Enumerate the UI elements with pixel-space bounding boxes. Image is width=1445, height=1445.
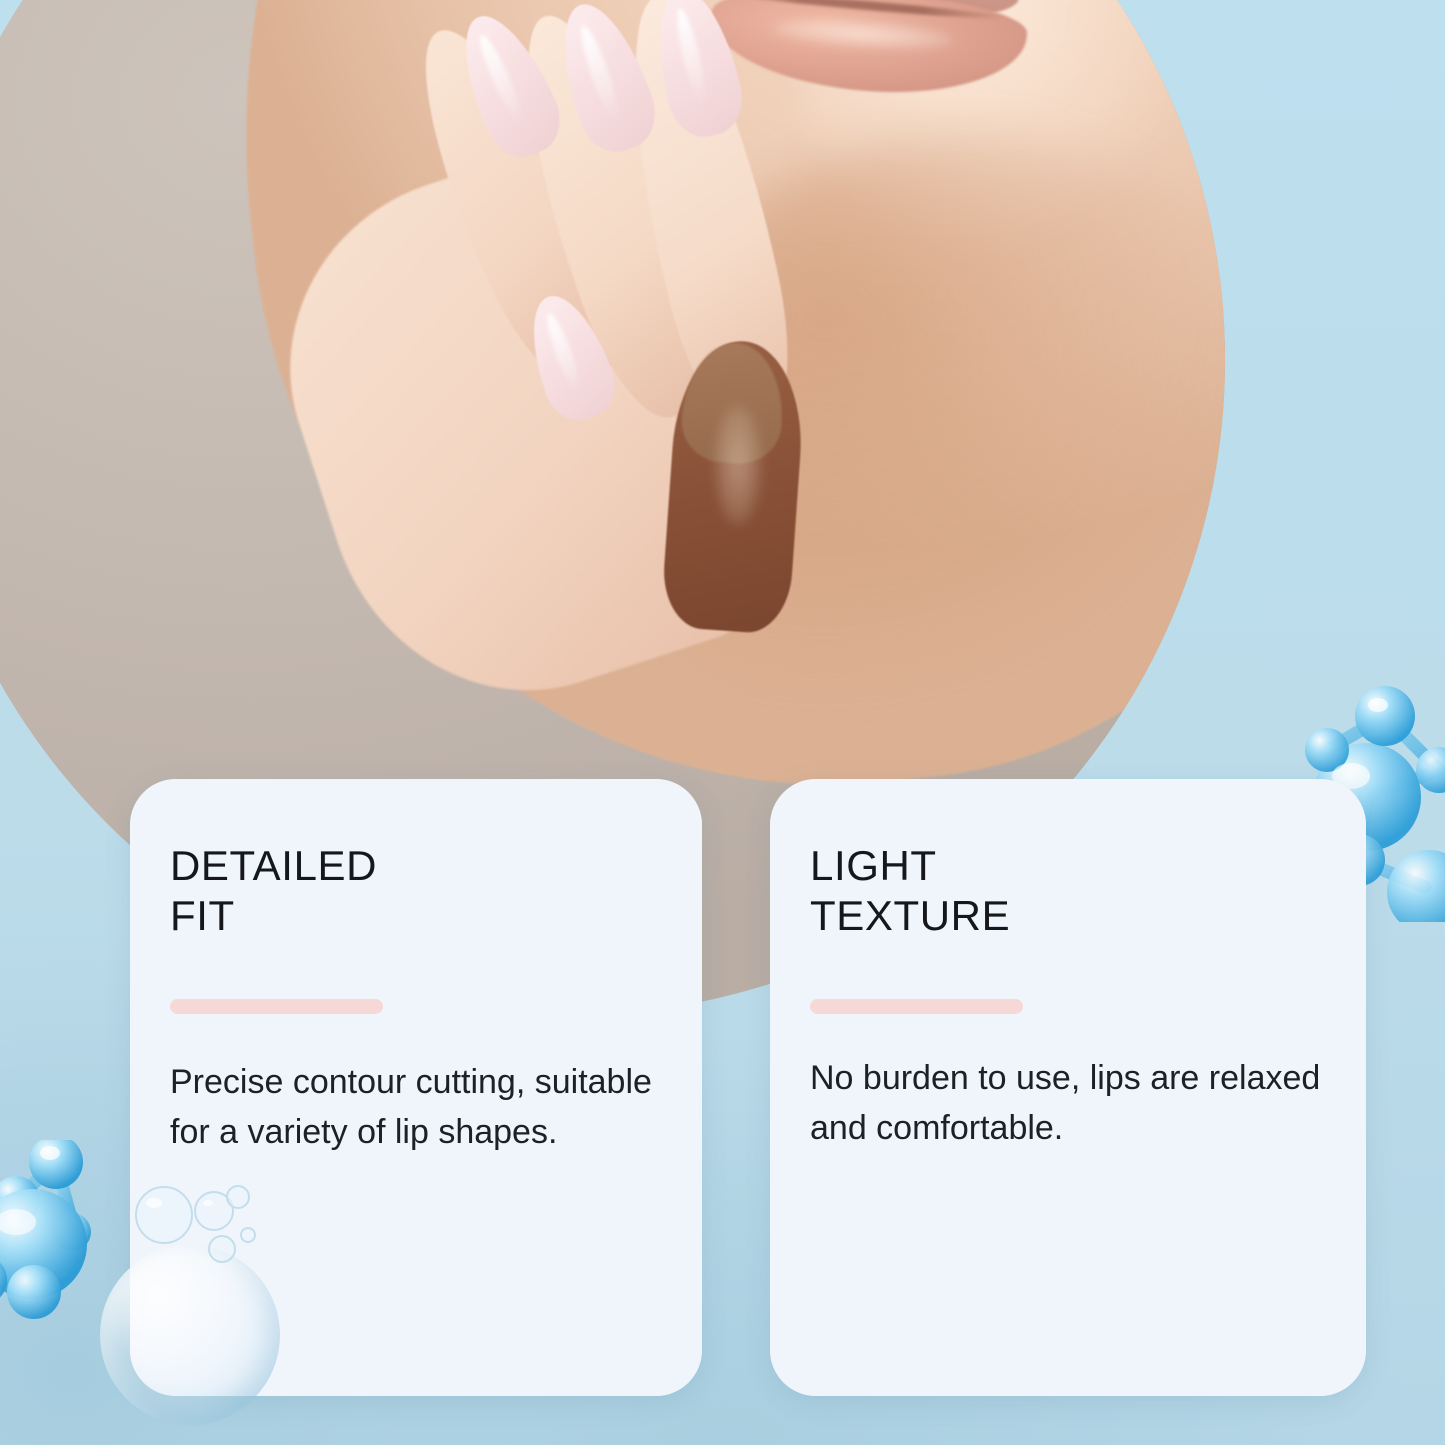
card-body: LIGHT TEXTURE No burden to use, lips are… (770, 779, 1366, 1154)
product-feature-banner: DETAILED FIT Precise contour cutting, su… (0, 0, 1445, 1445)
card-body: DETAILED FIT Precise contour cutting, su… (130, 779, 702, 1158)
card-title: DETAILED FIT (170, 841, 658, 940)
water-bubbles-small-icon (130, 1175, 270, 1295)
feature-card-light-texture[interactable]: LIGHT TEXTURE No burden to use, lips are… (770, 779, 1366, 1396)
card-description: No burden to use, lips are relaxed and c… (810, 1054, 1322, 1154)
card-accent-rule (170, 999, 383, 1014)
card-title: LIGHT TEXTURE (810, 841, 1322, 940)
card-accent-rule (810, 999, 1023, 1014)
card-description: Precise contour cutting, suitable for a … (170, 1058, 658, 1158)
